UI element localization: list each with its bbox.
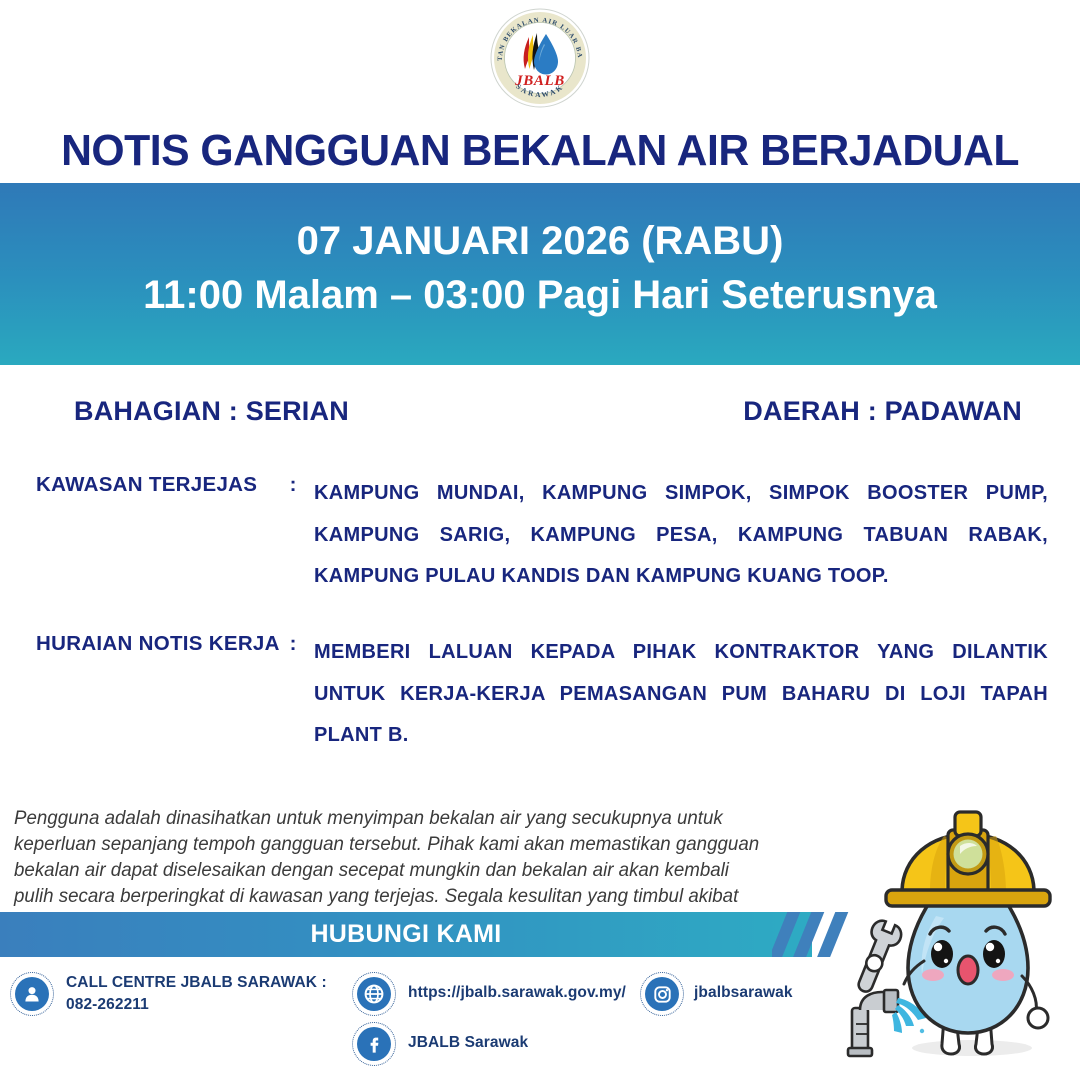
banner-date: 07 JANUARI 2026 (RABU) xyxy=(297,216,784,266)
work-description-block: HURAIAN NOTIS KERJA : MEMBERI LALUAN KEP… xyxy=(36,632,1048,757)
contact-heading: HUBUNGI KAMI xyxy=(310,920,501,949)
water-droplet-mascot-icon xyxy=(832,786,1080,1080)
affected-areas-colon: : xyxy=(272,473,314,598)
division-label: BAHAGIAN : SERIAN xyxy=(74,396,349,427)
call-centre-text: CALL CENTRE JBALB SARAWAK : 082-262211 xyxy=(66,972,366,1016)
district-label: DAERAH : PADAWAN xyxy=(743,396,1022,427)
page-title: NOTIS GANGGUAN BEKALAN AIR BERJADUAL xyxy=(16,126,1064,176)
person-icon xyxy=(10,972,54,1016)
instagram-handle[interactable]: jbalbsarawak xyxy=(694,982,793,1004)
affected-areas-label: KAWASAN TERJEJAS xyxy=(36,473,272,598)
facebook-icon[interactable] xyxy=(352,1022,396,1066)
banner-time: 11:00 Malam – 03:00 Pagi Hari Seterusnya xyxy=(143,270,937,320)
website-url[interactable]: https://jbalb.sarawak.gov.my/ xyxy=(408,982,626,1004)
affected-areas-value: KAMPUNG MUNDAI, KAMPUNG SIMPOK, SIMPOK B… xyxy=(314,473,1048,598)
instagram-icon[interactable] xyxy=(640,972,684,1016)
location-row: BAHAGIAN : SERIAN DAERAH : PADAWAN xyxy=(74,396,1022,427)
work-description-value: MEMBERI LALUAN KEPADA PIHAK KONTRAKTOR Y… xyxy=(314,632,1048,757)
globe-icon[interactable] xyxy=(352,972,396,1016)
facebook-handle[interactable]: JBALB Sarawak xyxy=(408,1032,528,1054)
call-centre-label: CALL CENTRE JBALB SARAWAK : xyxy=(66,972,366,994)
affected-areas-block: KAWASAN TERJEJAS : KAMPUNG MUNDAI, KAMPU… xyxy=(36,473,1048,598)
contact-heading-bar: HUBUNGI KAMI xyxy=(0,912,812,957)
logo-container: JBALB JABATAN BEKALAN AIR LUAR BANDAR SA… xyxy=(0,6,1080,110)
work-description-colon: : xyxy=(272,632,314,757)
date-time-banner: 07 JANUARI 2026 (RABU) 11:00 Malam – 03:… xyxy=(0,183,1080,365)
notice-poster: JBALB JABATAN BEKALAN AIR LUAR BANDAR SA… xyxy=(0,0,1080,1080)
call-centre-number: 082-262211 xyxy=(66,994,366,1016)
work-description-label: HURAIAN NOTIS KERJA xyxy=(36,632,272,757)
jbalb-logo-icon: JBALB JABATAN BEKALAN AIR LUAR BANDAR SA… xyxy=(488,6,592,110)
